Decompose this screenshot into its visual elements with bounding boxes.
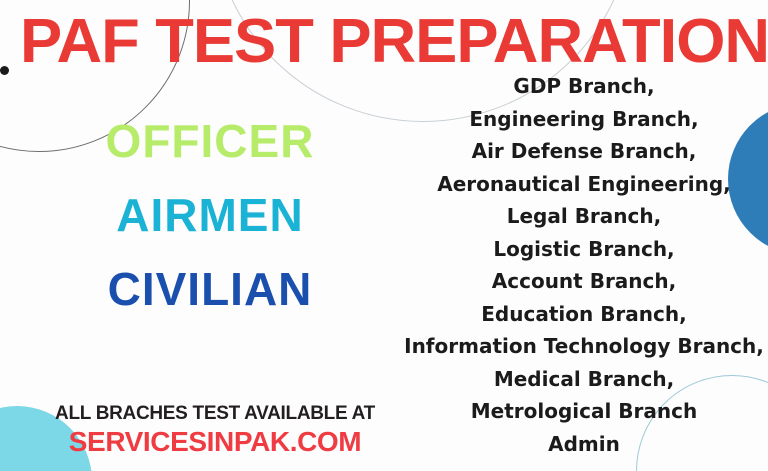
page-title: PAF TEST PREPARATION	[20, 10, 734, 74]
branch-list-item: Legal Branch,	[396, 200, 768, 233]
category-airmen: AIRMEN	[40, 186, 380, 244]
footer-website-url: SERVICESINPAK.COM	[0, 426, 430, 458]
footer: ALL BRACHES TEST AVAILABLE AT SERVICESIN…	[0, 402, 430, 458]
footer-tagline: ALL BRACHES TEST AVAILABLE AT	[0, 402, 430, 425]
category-civilian: CIVILIAN	[40, 260, 380, 318]
branch-list-item: GDP Branch,	[396, 70, 768, 103]
category-officer: OFFICER	[40, 112, 380, 170]
branch-list-item: Aeronautical Engineering,	[396, 168, 768, 201]
branch-list: GDP Branch, Engineering Branch, Air Defe…	[396, 70, 768, 460]
branch-list-item: Account Branch,	[396, 265, 768, 298]
branch-list-item: Logistic Branch,	[396, 233, 768, 266]
branch-list-item: Medical Branch,	[396, 363, 768, 396]
branch-list-item: Engineering Branch,	[396, 103, 768, 136]
dot-left-decoration	[0, 66, 9, 75]
branch-list-item: Metrological Branch	[396, 395, 768, 428]
branch-list-item: Education Branch,	[396, 298, 768, 331]
poster-canvas: PAF TEST PREPARATION OFFICER AIRMEN CIVI…	[0, 0, 768, 471]
category-list: OFFICER AIRMEN CIVILIAN	[40, 112, 380, 318]
branch-list-item: Information Technology Branch,	[396, 330, 768, 363]
branch-list-item: Admin	[396, 428, 768, 461]
branch-list-item: Air Defense Branch,	[396, 135, 768, 168]
